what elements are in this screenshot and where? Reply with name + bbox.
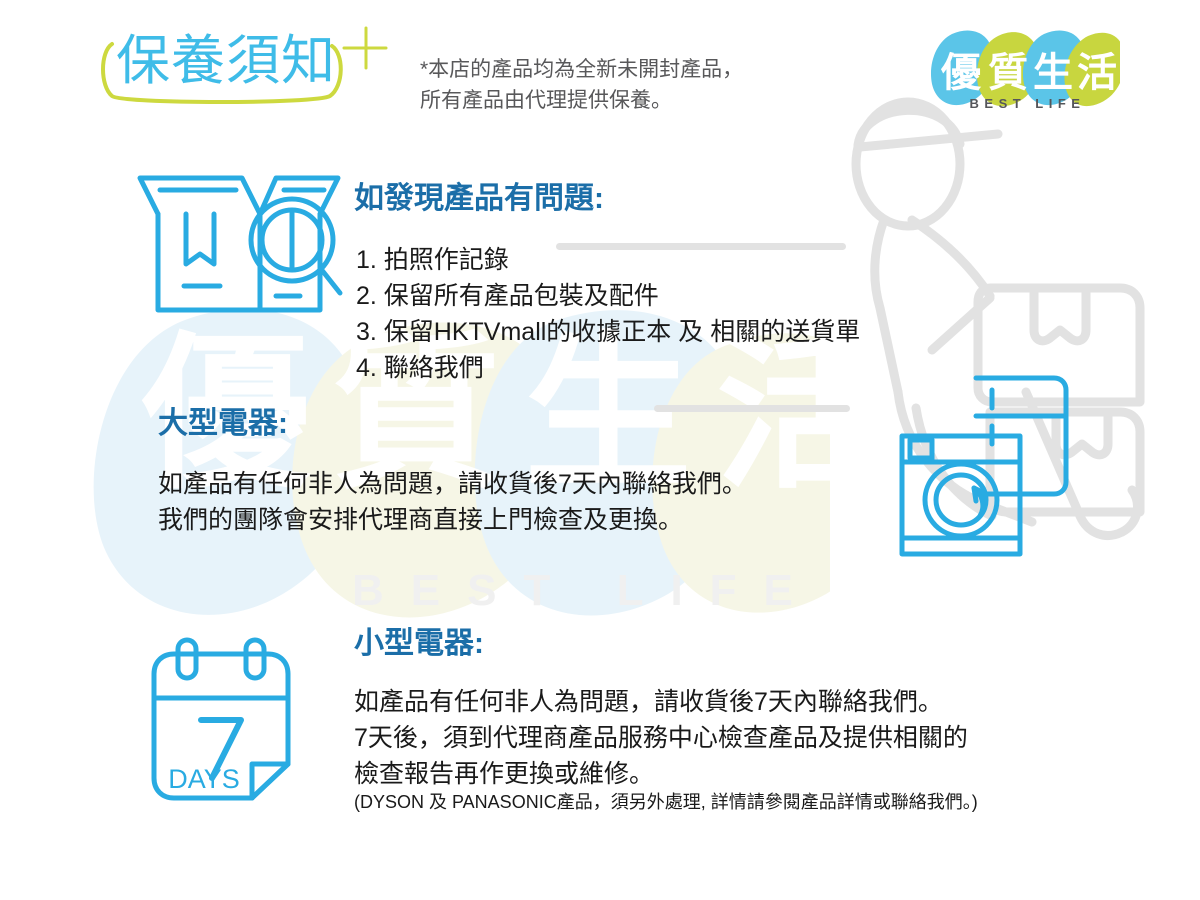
svg-text:生: 生: [1033, 51, 1073, 95]
calendar-7days-icon: DAYS: [146, 636, 312, 804]
section-small-appliance-body: 如產品有任何非人為問題，請收貨後7天內聯絡我們。 7天後，須到代理商產品服務中心…: [354, 684, 968, 792]
list-item: 2. 保留所有產品包裝及配件: [356, 278, 860, 314]
sparkle-plus-icon: [336, 24, 388, 76]
maintenance-notice-page: 優 質 生 活 BEST LIFE: [0, 0, 1200, 900]
svg-text:優: 優: [940, 51, 982, 95]
box-magnifier-icon: [124, 168, 344, 323]
store-note-text: *本店的產品均為全新未開封產品， 所有產品由代理提供保養。: [420, 54, 743, 116]
section-large-appliance-body: 如產品有任何非人為問題，請收貨後7天內聯絡我們。 我們的團隊會安排代理商直接上門…: [158, 466, 747, 538]
washing-machine-fridge-icon: [896, 370, 1072, 560]
list-item: 1. 拍照作記錄: [356, 242, 860, 278]
section-small-appliance-note: (DYSON 及 PANASONIC產品，須另外處理, 詳情請參閱產品詳情或聯絡…: [354, 790, 978, 815]
section-large-appliance-heading: 大型電器:: [158, 405, 288, 443]
content-layer: 保養須知 *本店的產品均為全新未開封產品， 所有產品由代理提供保養。 優 質 生…: [0, 0, 1200, 900]
svg-text:活: 活: [1077, 51, 1117, 95]
page-title: 保養須知: [116, 30, 336, 92]
calendar-days-label: DAYS: [168, 764, 240, 794]
list-item: 3. 保留HKTVmall的收據正本 及 相關的送貨單: [356, 314, 860, 350]
brand-tagline: BEST LIFE: [930, 96, 1120, 111]
section-small-appliance-heading: 小型電器:: [354, 625, 484, 663]
divider-line-2: [654, 405, 850, 412]
problem-steps-list: 1. 拍照作記錄 2. 保留所有產品包裝及配件 3. 保留HKTVmall的收據…: [356, 242, 860, 386]
svg-text:質: 質: [988, 51, 1028, 95]
list-item: 4. 聯絡我們: [356, 350, 860, 386]
section-problem-heading: 如發現產品有問題:: [354, 180, 604, 218]
page-title-badge: 保養須知: [100, 28, 362, 108]
